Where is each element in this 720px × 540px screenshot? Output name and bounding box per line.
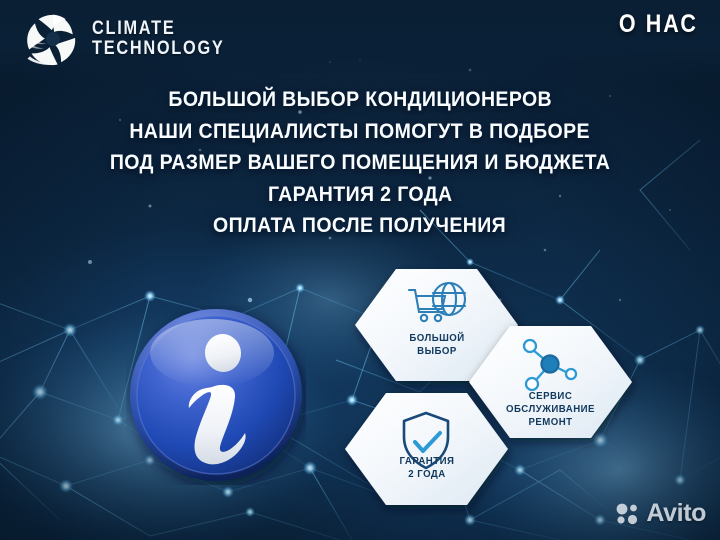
badge-warranty-label-line2: 2 ГОДА [389,468,464,481]
avito-dots-icon [615,501,641,527]
brand-line-1: CLIMATE [92,19,224,39]
page-title: О НАС [619,10,698,39]
headline-line-2: НАШИ СПЕЦИАЛИСТЫ ПОМОГУТ В ПОДБОРЕ [130,118,591,147]
badge-big-choice-label: БОЛЬШОЙ ВЫБОР [399,332,474,358]
avito-wordmark: Avito [646,499,706,528]
headline-line-5: ОПЛАТА ПОСЛЕ ПОЛУЧЕНИЯ [213,212,506,241]
information-i-icon [126,305,306,485]
badge-warranty-label-line1: ГАРАНТИЯ [389,455,464,468]
badge-big-choice-label-line1: БОЛЬШОЙ [399,332,474,345]
promo-banner: CLIMATE TECHNOLOGY О НАС БОЛЬШОЙ ВЫБОР К… [0,0,720,540]
badge-service-label-line1: СЕРВИС [492,390,609,403]
badge-service-label: СЕРВИС ОБСЛУЖИВАНИЕ РЕМОНТ [492,390,609,428]
brand-logo[interactable]: CLIMATE TECHNOLOGY [24,10,246,68]
badge-service-label-line2: ОБСЛУЖИВАНИЕ [492,403,609,416]
fan-swirl-icon [24,10,82,68]
headline-line-3: ПОД РАЗМЕР ВАШЕГО ПОМЕЩЕНИЯ И БЮДЖЕТА [110,149,610,178]
brand-line-2: TECHNOLOGY [92,39,224,59]
badge-service-label-line3: РЕМОНТ [492,416,609,429]
badge-warranty-label: ГАРАНТИЯ 2 ГОДА [389,455,464,481]
avito-watermark: Avito [615,499,706,528]
brand-wordmark: CLIMATE TECHNOLOGY [92,19,246,59]
headline-line-4: ГАРАНТИЯ 2 ГОДА [268,181,453,210]
badge-big-choice-label-line2: ВЫБОР [399,345,474,358]
headline-block: БОЛЬШОЙ ВЫБОР КОНДИЦИОНЕРОВ НАШИ СПЕЦИАЛ… [0,86,720,241]
headline-line-1: БОЛЬШОЙ ВЫБОР КОНДИЦИОНЕРОВ [168,86,552,115]
